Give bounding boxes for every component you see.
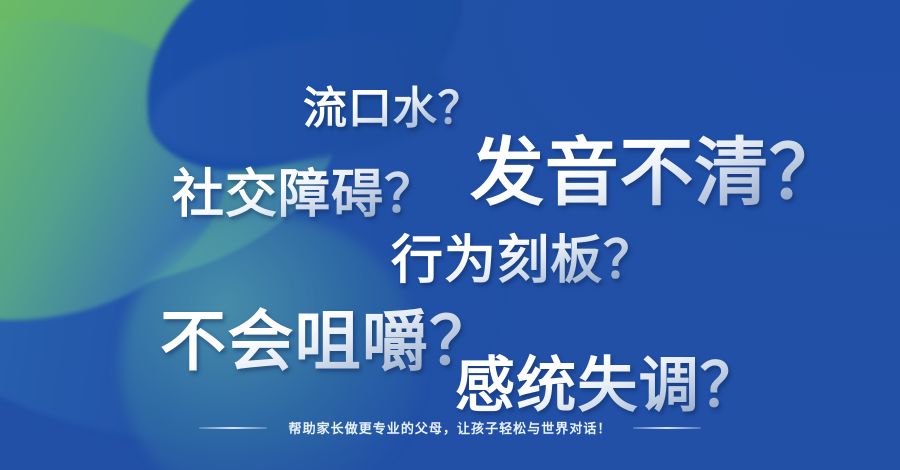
headline-stereotyped-behavior: 行为刻板？ [391, 218, 656, 293]
footer-tagline-row: 帮助家长做更专业的父母，让孩子轻松与世界对话！ [0, 418, 900, 437]
headline-sensory-integration-disorder: 感统失调？ [455, 337, 761, 424]
headline-cannot-chew: 不会咀嚼？ [160, 288, 497, 384]
headline-drooling: 流口水？ [303, 72, 483, 136]
headline-unclear-pronunciation: 发音不清？ [470, 113, 844, 220]
headline-social-barrier: 社交障碍？ [172, 152, 437, 227]
footer-tagline: 帮助家长做更专业的父母，让孩子轻松与世界对话！ [289, 418, 612, 437]
divider-left [199, 427, 267, 429]
divider-right [633, 427, 701, 429]
promo-banner: 流口水？ 社交障碍？ 发音不清？ 行为刻板？ 不会咀嚼？ 感统失调？ 帮助家长做… [0, 0, 900, 470]
